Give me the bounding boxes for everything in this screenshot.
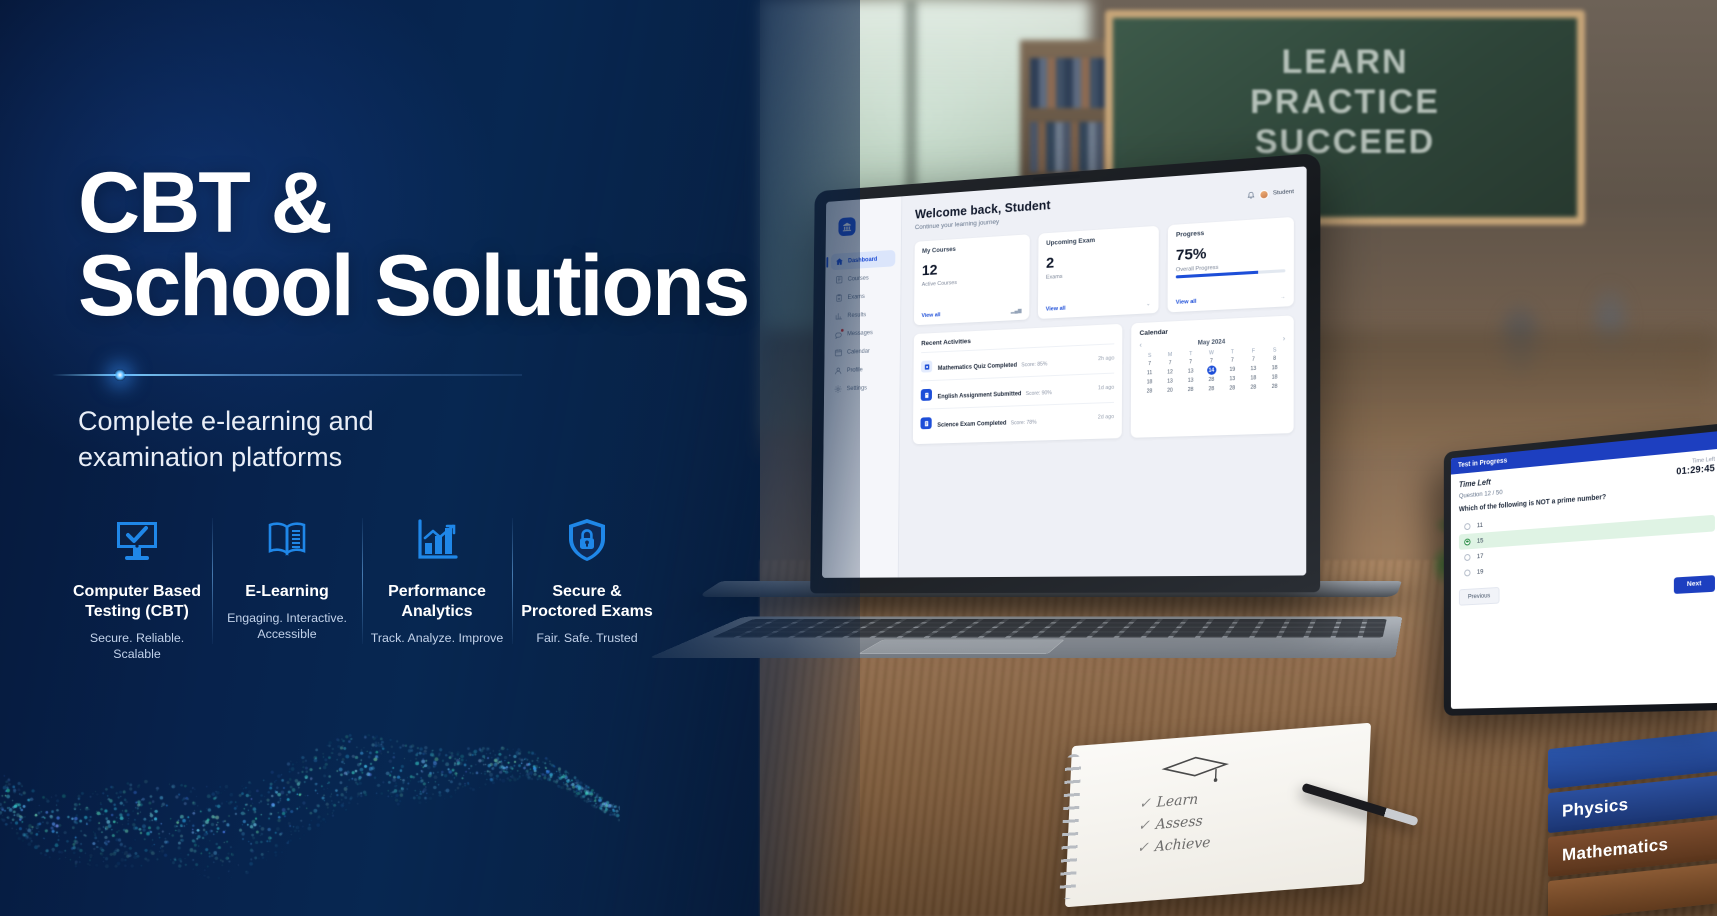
tablet-body: Test in Progress Time Left Question 12 /… — [1444, 422, 1717, 715]
card-title: My Courses — [922, 242, 1022, 255]
activity-text: English Assignment Submitted Score: 90% — [937, 380, 1092, 404]
laptop-screen: Dashboard Courses Exams — [822, 166, 1307, 578]
user-name: Student — [1273, 189, 1294, 197]
view-all-link[interactable]: View all — [1176, 299, 1197, 306]
activity-score: Score: 78% — [1011, 420, 1037, 427]
radio-icon[interactable] — [1464, 522, 1470, 529]
shield-lock-icon — [520, 512, 654, 568]
activity-name: Mathematics Quiz Completed — [938, 363, 1017, 372]
chevron-left-icon[interactable]: ‹ — [1139, 342, 1141, 349]
activity-text: Mathematics Quiz Completed Score: 85% — [938, 350, 1093, 375]
feature-subtitle: Engaging. Interactive. Accessible — [220, 610, 354, 642]
feature-title: E-Learning — [220, 582, 354, 602]
answer-label: 15 — [1477, 537, 1484, 544]
feature-subtitle: Track. Analyze. Improve — [370, 630, 504, 646]
radio-icon-selected[interactable] — [1464, 538, 1470, 545]
feature-item-analytics: Performance Analytics Track. Analyze. Im… — [362, 512, 512, 662]
dashboard-main: Welcome back, Student Continue your lear… — [899, 166, 1307, 577]
chevron-right-icon[interactable]: › — [1283, 336, 1285, 343]
quiz-icon — [921, 360, 932, 372]
laptop-lid: Dashboard Courses Exams — [810, 153, 1320, 594]
feature-subtitle: Fair. Safe. Trusted — [520, 630, 654, 646]
calendar-day[interactable]: 28 — [1201, 384, 1222, 394]
headline-line-1: CBT & — [78, 155, 331, 251]
activity-score: Score: 85% — [1021, 361, 1047, 368]
bar-chart-trend-icon — [370, 512, 504, 568]
graduation-cap-icon — [1160, 752, 1231, 788]
check-icon: ✓ — [1137, 839, 1149, 856]
activity-name: Science Exam Completed — [937, 421, 1006, 429]
calendar-month: May 2024 — [1198, 339, 1225, 346]
monitor-check-icon — [70, 512, 204, 568]
card-value: 12 — [922, 257, 1022, 278]
feature-item-elearning: E-Learning Engaging. Interactive. Access… — [212, 512, 362, 662]
activity-text: Science Exam Completed Score: 78% — [937, 409, 1092, 432]
bell-icon[interactable] — [1247, 186, 1255, 205]
calendar-day[interactable]: 28 — [1264, 381, 1285, 391]
view-all-link[interactable]: View all — [921, 312, 940, 319]
check-icon: ✓ — [1139, 795, 1151, 812]
chalkboard-text: LEARN PRACTICE SUCCEED — [1180, 42, 1510, 162]
notebook-lines: ✓Learn ✓Assess ✓Achieve — [1137, 787, 1213, 859]
card-value: 75% — [1176, 241, 1286, 263]
calendar-day[interactable]: 28 — [1180, 384, 1201, 394]
card-title: Progress — [1176, 225, 1285, 239]
card-title: Upcoming Exam — [1046, 233, 1151, 247]
chalk-line: PRACTICE — [1180, 82, 1510, 122]
calendar-panel: Calendar ‹ May 2024 › S M T W — [1131, 315, 1294, 437]
countdown-timer: Time Left 01:29:45 — [1676, 457, 1715, 477]
feature-subtitle: Secure. Reliable. Scalable — [70, 630, 204, 662]
chalk-line: LEARN — [1180, 42, 1510, 82]
avatar[interactable] — [1259, 189, 1268, 199]
activity-timestamp: 1d ago — [1098, 385, 1114, 392]
card-label: Exams — [1046, 269, 1151, 281]
card-footer: View all ▂▄▆ — [921, 308, 1021, 319]
card-value: 2 — [1046, 250, 1151, 271]
feature-list: Computer Based Testing (CBT) Secure. Rel… — [62, 512, 662, 662]
time-left-label: Time Left — [1459, 476, 1503, 489]
calendar-day[interactable]: 7 — [1201, 356, 1222, 366]
webcam — [1033, 174, 1080, 181]
calendar-day[interactable]: 28 — [1222, 383, 1243, 393]
feature-title: Performance Analytics — [370, 582, 504, 622]
activity-timestamp: 2h ago — [1098, 355, 1114, 362]
activity-timestamp: 2d ago — [1098, 414, 1114, 421]
card-footer: View all ⌄ — [1046, 301, 1151, 312]
arrow-icon: ⌄ — [1146, 301, 1150, 307]
sparkline-icon: ▂▄▆ — [1011, 308, 1022, 315]
book-label: Mathematics — [1562, 835, 1668, 866]
assignment-icon — [921, 389, 932, 401]
radio-icon[interactable] — [1464, 569, 1470, 576]
stat-card-upcoming-exam[interactable]: Upcoming Exam 2 Exams View all ⌄ — [1038, 226, 1159, 319]
tablet-mockup: Test in Progress Time Left Question 12 /… — [1432, 438, 1717, 738]
chalk-line: SUCCEED — [1180, 122, 1510, 162]
headline-line-2: School Solutions — [78, 245, 798, 328]
recent-activities-panel: Recent Activities Mathematics Quiz Compl… — [913, 324, 1123, 444]
feature-item-secure-exams: Secure & Proctored Exams Fair. Safe. Tru… — [512, 512, 662, 662]
next-button[interactable]: Next — [1674, 575, 1715, 594]
view-all-link[interactable]: View all — [1046, 306, 1066, 313]
calendar-day[interactable]: 28 — [1139, 386, 1159, 396]
activity-name: English Assignment Submitted — [937, 391, 1021, 400]
activity-row[interactable]: Science Exam Completed Score: 78% 2d ago — [920, 402, 1114, 437]
check-icon: ✓ — [1138, 817, 1150, 834]
card-footer: View all → — [1176, 294, 1286, 306]
timer-value: 01:29:45 — [1676, 463, 1715, 477]
header-user-area[interactable]: Student — [1247, 181, 1294, 205]
open-book-icon — [220, 512, 354, 568]
stat-card-my-courses[interactable]: My Courses 12 Active Courses View all ▂▄… — [914, 234, 1030, 325]
answer-label: 19 — [1477, 568, 1484, 575]
book-label: Physics — [1562, 795, 1628, 822]
particle-decoration — [0, 666, 620, 916]
activity-score: Score: 90% — [1026, 390, 1052, 397]
test-content: Time Left Question 12 / 50 Time Left 01:… — [1451, 448, 1717, 613]
feature-title: Secure & Proctored Exams — [520, 582, 654, 622]
calendar-day-today[interactable]: 14 — [1207, 365, 1216, 375]
stat-card-progress[interactable]: Progress 75% Overall Progress View all → — [1168, 217, 1294, 313]
calendar-day[interactable]: 20 — [1160, 385, 1181, 395]
answer-label: 17 — [1477, 552, 1484, 559]
feature-item-cbt: Computer Based Testing (CBT) Secure. Rel… — [62, 512, 212, 662]
feature-title: Computer Based Testing (CBT) — [70, 582, 204, 622]
laptop-mockup: Dashboard Courses Exams — [795, 172, 1355, 692]
accent-divider — [52, 374, 522, 376]
hero-banner: LEARN PRACTICE SUCCEED ✓Learn ✓Assess ✓A… — [0, 0, 1717, 916]
notebook: ✓Learn ✓Assess ✓Achieve — [1065, 723, 1371, 908]
exam-icon — [920, 417, 931, 429]
previous-button[interactable]: Previous — [1459, 587, 1499, 606]
book-stack: Physics Mathematics — [1548, 731, 1717, 916]
page-subtitle: Complete e-learning and examination plat… — [78, 404, 508, 476]
answer-label: 11 — [1477, 521, 1483, 528]
panel-title: Calendar — [1140, 323, 1286, 337]
tablet-screen: Test in Progress Time Left Question 12 /… — [1451, 431, 1717, 709]
test-navigation: Previous Next — [1459, 574, 1715, 606]
trackpad[interactable] — [858, 639, 1065, 654]
radio-icon[interactable] — [1464, 553, 1470, 560]
question-counter: Question 12 / 50 — [1459, 489, 1503, 500]
dashboard-lower: Recent Activities Mathematics Quiz Compl… — [913, 315, 1294, 444]
notebook-line: ✓Achieve — [1137, 832, 1211, 860]
calendar-day[interactable]: 28 — [1243, 382, 1264, 392]
page-title: CBT & School Solutions — [78, 162, 798, 327]
arrow-right-icon: → — [1280, 294, 1285, 300]
stat-cards: My Courses 12 Active Courses View all ▂▄… — [914, 217, 1294, 325]
